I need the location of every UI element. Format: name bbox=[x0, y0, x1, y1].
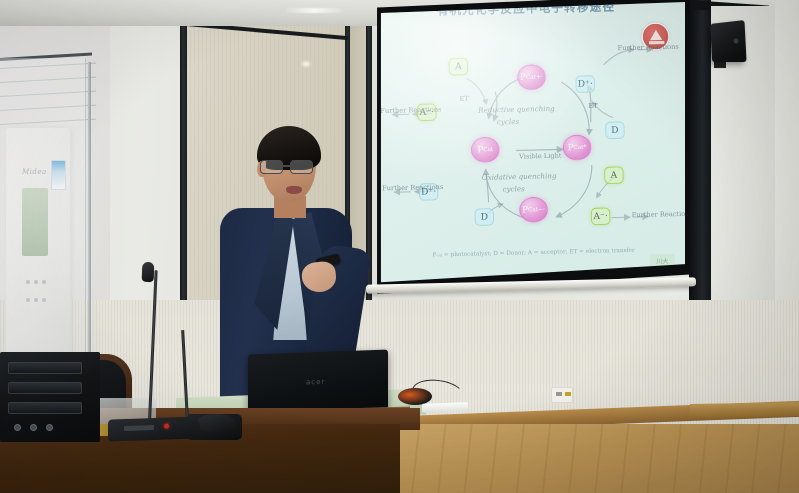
pcat-rc-sub: Cat bbox=[526, 74, 536, 80]
label-further-reactions-2: Further Reactions bbox=[382, 183, 443, 193]
wall-speaker bbox=[710, 20, 746, 62]
label-reductive-quenching-2: cycles bbox=[497, 118, 519, 127]
screenshot-root: Midea 有机光化学反应中电子转移途径 bbox=[0, 0, 799, 493]
label-oxidative-quenching-2: cycles bbox=[502, 185, 524, 194]
screen-surface: 有机光化学反应中电子转移途径 bbox=[376, 0, 685, 284]
node-donor-D-top: D bbox=[605, 121, 625, 139]
label-visible-light: Visible Light bbox=[519, 151, 562, 160]
node-donor-D-bottom: D bbox=[474, 208, 494, 226]
wood-floor bbox=[340, 424, 799, 493]
outlet-socket-left bbox=[556, 392, 562, 396]
wall-groove-vertical-left bbox=[180, 0, 187, 348]
projection-screen: 有机光化学反应中电子转移途径 bbox=[370, 0, 690, 294]
node-A-radical-anion-bottom: A⁻· bbox=[591, 207, 611, 225]
label-further-reactions-4: Further Reactions bbox=[632, 210, 685, 220]
speaker-driver-dot bbox=[733, 38, 738, 43]
pcat-e-sub: Cat bbox=[573, 144, 583, 150]
desk-router-device bbox=[422, 402, 468, 413]
node-acceptor-A-bottom: A bbox=[604, 166, 624, 184]
eyeglasses-icon bbox=[260, 160, 318, 175]
label-et-1: ET bbox=[459, 94, 468, 102]
ceiling-light-glow bbox=[300, 60, 312, 68]
baseboard-right bbox=[690, 402, 799, 418]
headset bbox=[398, 388, 432, 405]
label-et-2: ET bbox=[588, 102, 597, 110]
av-equipment-rack[interactable] bbox=[0, 352, 100, 442]
outlet-socket-right bbox=[565, 392, 571, 396]
presenter-mouth bbox=[286, 186, 302, 194]
microphone-base-unit[interactable] bbox=[108, 416, 200, 441]
mic-display bbox=[124, 425, 154, 431]
computer-mouse[interactable] bbox=[196, 414, 236, 432]
pcat-ra-sub: Cat bbox=[528, 207, 538, 213]
ceiling-light-strip bbox=[286, 8, 342, 13]
pcat-e-sup: * bbox=[583, 144, 586, 151]
label-further-reactions-1: Further Reactions bbox=[380, 105, 441, 115]
pcat-ra-sup: −· bbox=[538, 206, 545, 213]
wall-power-outlet bbox=[551, 387, 573, 403]
mic-status-led bbox=[164, 423, 169, 428]
microphone-capsule bbox=[142, 262, 155, 282]
pcat-g-sub: Cat bbox=[483, 146, 493, 152]
pcat-rc-sup: +· bbox=[536, 73, 543, 80]
slide-content: 有机光化学反应中电子转移途径 bbox=[376, 0, 685, 284]
glass-rack-post bbox=[88, 62, 91, 358]
node-D-radical-cation-top: D⁺· bbox=[575, 75, 595, 93]
label-further-reactions-3: Further Reactions bbox=[617, 43, 678, 53]
glass-partition bbox=[0, 58, 86, 358]
node-acceptor-A-top: A bbox=[448, 58, 468, 76]
laptop-brand-label: acer bbox=[306, 378, 325, 387]
